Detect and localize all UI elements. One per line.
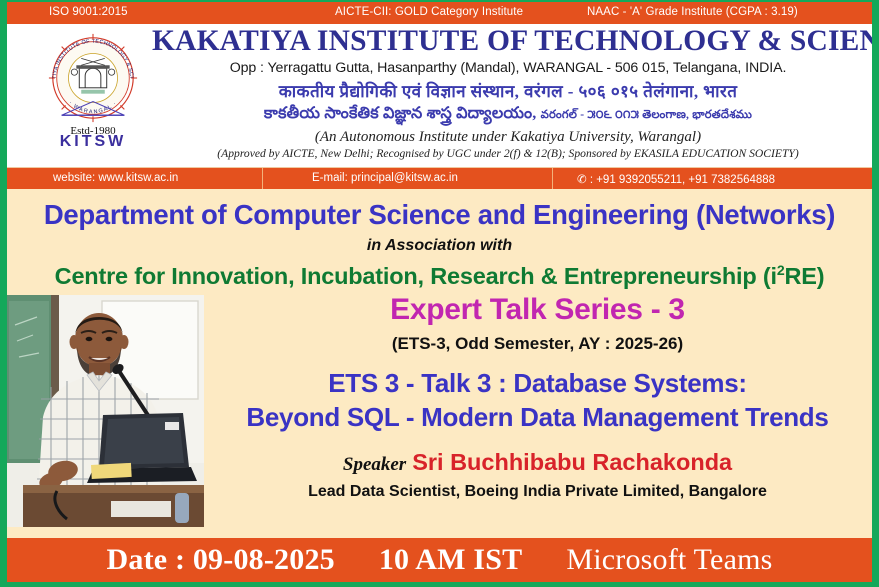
speaker-line: SpeakerSri Buchhibabu Rachakonda bbox=[207, 449, 868, 476]
institute-name-telugu: కాకతీయ సాంకేతిక విజ్ఞాన శాస్త్ర విద్యాలయ… bbox=[152, 104, 864, 126]
kitsw-seal-icon: KAKATIYA INSTITUTE OF TECHNOLOGY & SCIEN… bbox=[44, 29, 142, 127]
event-details-bar: Date : 09-08-2025 10 AM IST Microsoft Te… bbox=[7, 538, 872, 582]
event-poster: ISO 9001:2015 AICTE-CII: GOLD Category I… bbox=[0, 0, 879, 587]
speaker-photo-illustration bbox=[7, 295, 204, 527]
iso-certification-label: ISO 9001:2015 bbox=[49, 6, 128, 18]
talk-title: ETS 3 - Talk 3 : Database Systems: Beyon… bbox=[207, 367, 868, 435]
talk-title-line2: Beyond SQL - Modern Data Management Tren… bbox=[207, 401, 868, 435]
speaker-photo bbox=[7, 295, 204, 527]
centre-title-suffix: RE) bbox=[784, 263, 824, 289]
department-title: Department of Computer Science and Engin… bbox=[7, 189, 872, 231]
approval-statement: (Approved by AICTE, New Delhi; Recognise… bbox=[152, 147, 864, 160]
speaker-name: Sri Buchhibabu Rachakonda bbox=[412, 449, 732, 475]
institute-name: KAKATIYA INSTITUTE OF TECHNOLOGY & SCIEN… bbox=[152, 26, 864, 57]
naac-grade-label: NAAC - 'A' Grade Institute (CGPA : 3.19) bbox=[587, 6, 798, 18]
centre-title: Centre for Innovation, Incubation, Resea… bbox=[7, 262, 872, 290]
association-label: in Association with bbox=[7, 237, 872, 255]
accreditation-bar: ISO 9001:2015 AICTE-CII: GOLD Category I… bbox=[7, 2, 872, 24]
speaker-label: Speaker bbox=[343, 454, 406, 475]
poster-body: Department of Computer Science and Engin… bbox=[7, 189, 872, 539]
institute-text-block: KAKATIYA INSTITUTE OF TECHNOLOGY & SCIEN… bbox=[152, 26, 864, 160]
telugu-main: కాకతీయ సాంకేతిక విజ్ఞాన శాస్త్ర విద్యాలయ… bbox=[264, 105, 537, 122]
aicte-category-label: AICTE-CII: GOLD Category Institute bbox=[335, 6, 523, 18]
phone-number: ✆ : +91 9392055211, +91 7382564888 bbox=[577, 172, 775, 186]
contact-divider-2 bbox=[552, 168, 553, 189]
talk-details: Expert Talk Series - 3 (ETS-3, Odd Semes… bbox=[207, 293, 868, 501]
event-platform: Microsoft Teams bbox=[566, 543, 772, 577]
autonomous-status-label: (An Autonomous Institute under Kakatiya … bbox=[152, 129, 864, 146]
expert-talk-series-title: Expert Talk Series - 3 bbox=[207, 293, 868, 327]
event-date: Date : 09-08-2025 bbox=[107, 543, 335, 577]
centre-title-prefix: Centre for Innovation, Incubation, Resea… bbox=[55, 263, 777, 289]
website-link[interactable]: website: www.kitsw.ac.in bbox=[53, 172, 178, 184]
telugu-small: వరంగల్ - ౫౦౬ ౦౧౫ తెలంగాణ, భారతదేశము bbox=[541, 109, 752, 121]
email-link[interactable]: E-mail: principal@kitsw.ac.in bbox=[312, 172, 458, 184]
event-time: 10 AM IST bbox=[379, 543, 523, 577]
institute-name-hindi: काकतीय प्रैद्योगिकी एवं विज्ञान संस्थान,… bbox=[152, 79, 864, 102]
expert-talk-series-subtitle: (ETS-3, Odd Semester, AY : 2025-26) bbox=[207, 334, 868, 354]
institute-header: KAKATIYA INSTITUTE OF TECHNOLOGY & SCIEN… bbox=[7, 24, 872, 167]
talk-title-line1: ETS 3 - Talk 3 : Database Systems: bbox=[207, 367, 868, 401]
institute-abbreviation: KITSW bbox=[37, 133, 149, 151]
institute-logo: KAKATIYA INSTITUTE OF TECHNOLOGY & SCIEN… bbox=[37, 29, 149, 159]
contact-bar: website: www.kitsw.ac.in E-mail: princip… bbox=[7, 167, 872, 189]
speaker-designation: Lead Data Scientist, Boeing India Privat… bbox=[207, 483, 868, 501]
contact-divider-1 bbox=[262, 168, 263, 189]
institute-address: Opp : Yerragattu Gutta, Hasanparthy (Man… bbox=[152, 60, 864, 76]
seal-svg: KAKATIYA INSTITUTE OF TECHNOLOGY & SCIEN… bbox=[44, 29, 142, 127]
